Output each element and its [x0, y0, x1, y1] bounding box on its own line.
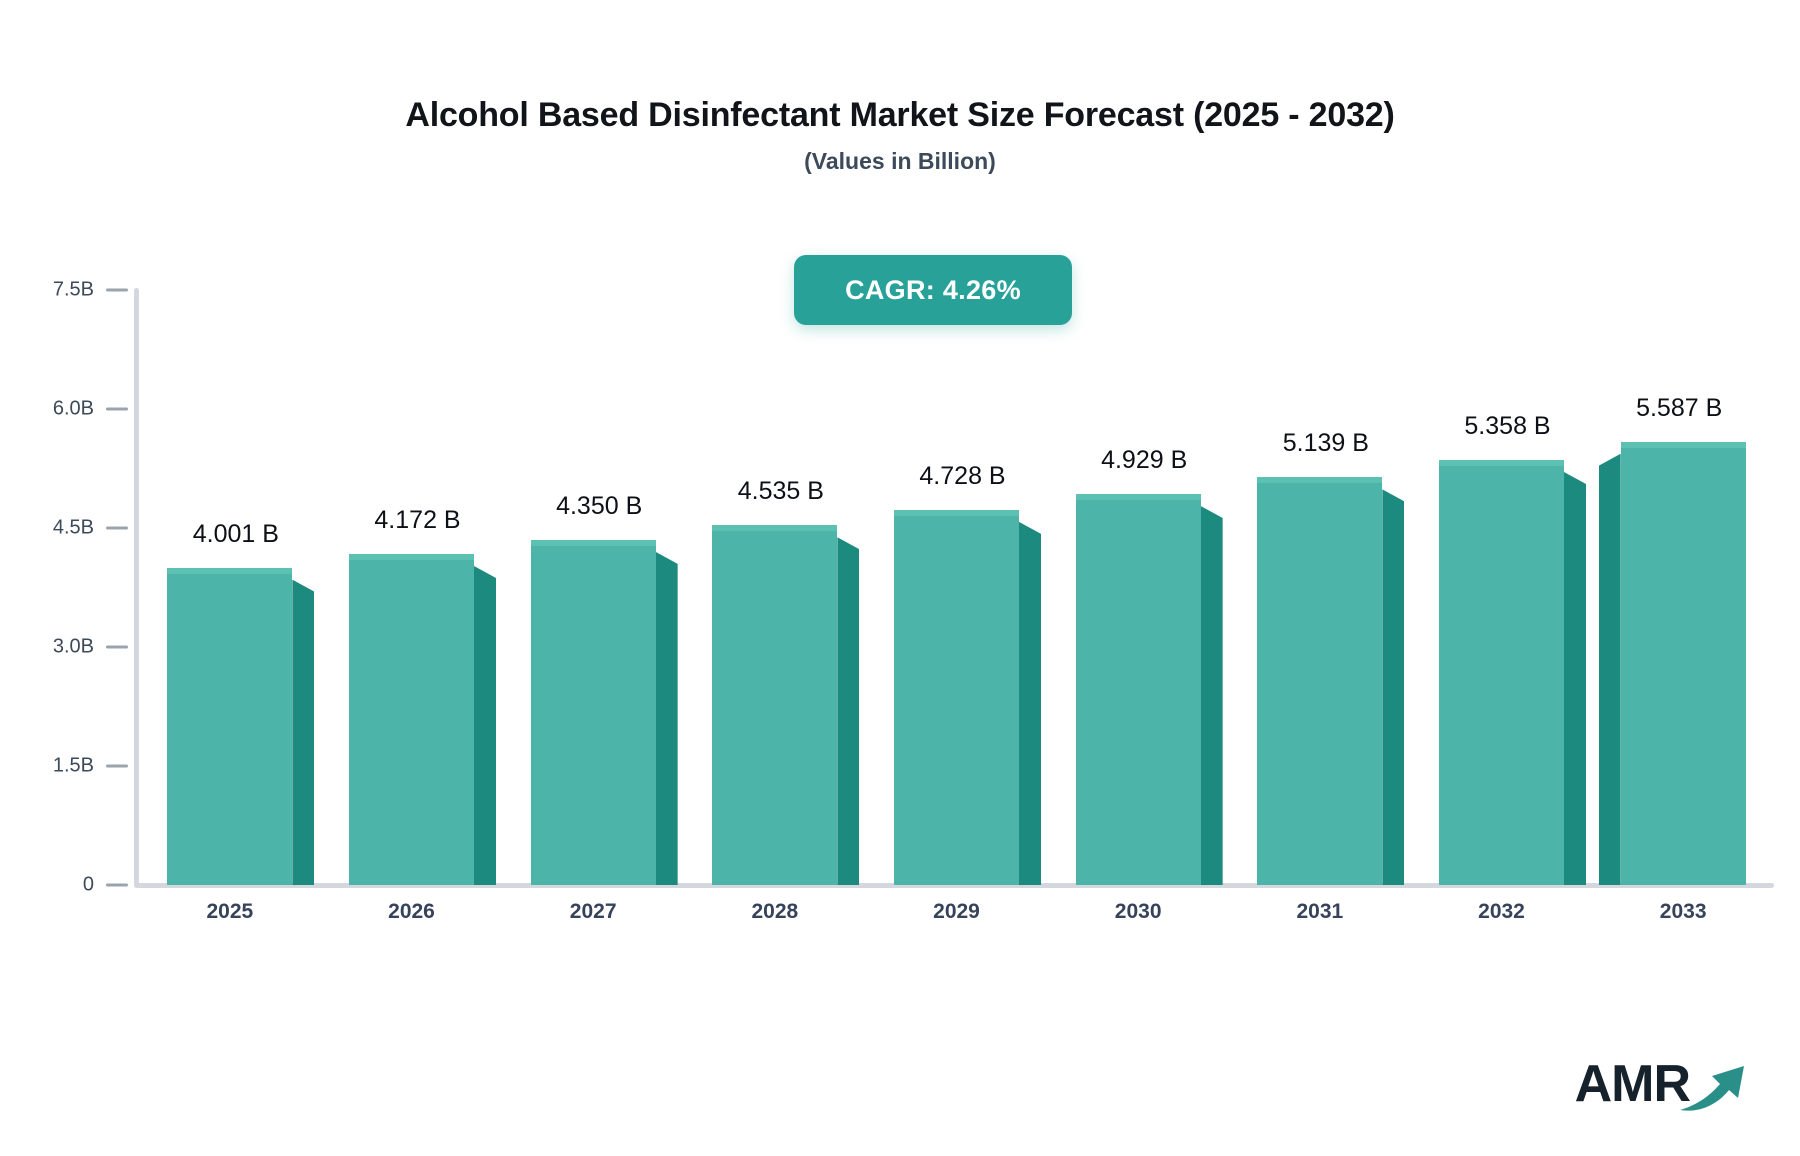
bar-value-label: 4.728 B — [919, 462, 1005, 491]
x-axis-label: 2030 — [1115, 900, 1162, 924]
bar-value-label: 4.350 B — [556, 492, 642, 521]
bar-top-cap — [1621, 442, 1746, 448]
bar-side-face — [292, 580, 314, 885]
plot-area: 01.5B3.0B4.5B6.0B7.5B 4.001 B4.172 B4.35… — [0, 0, 1800, 1156]
bar-front-face — [1621, 442, 1746, 885]
bars-layer: 4.001 B4.172 B4.350 B4.535 B4.728 B4.929… — [0, 0, 1800, 1156]
x-axis-label: 2025 — [206, 900, 253, 924]
bar-side-face — [1564, 472, 1586, 885]
x-axis-label: 2032 — [1478, 900, 1525, 924]
bar-front-face — [1076, 494, 1201, 885]
x-axis-label: 2028 — [751, 900, 798, 924]
bar-side-face — [656, 552, 678, 885]
bar-value-label: 5.587 B — [1636, 394, 1722, 423]
bar-side-face — [1599, 454, 1621, 885]
bar-side-face — [1382, 489, 1404, 885]
bar[interactable] — [167, 568, 292, 885]
bar-top-cap — [894, 510, 1019, 516]
bar-top-cap — [349, 554, 474, 560]
bar-value-label: 4.929 B — [1101, 446, 1187, 475]
bar[interactable] — [1439, 460, 1564, 885]
bar-top-cap — [712, 525, 837, 531]
bar-top-cap — [167, 568, 292, 574]
x-axis-label: 2027 — [570, 900, 617, 924]
bar-front-face — [531, 540, 656, 885]
bar-top-cap — [1076, 494, 1201, 500]
bar[interactable] — [712, 525, 837, 885]
x-axis-label: 2026 — [388, 900, 435, 924]
bar-value-label: 4.535 B — [738, 477, 824, 506]
bar-value-label: 5.358 B — [1464, 412, 1550, 441]
bar-side-face — [474, 566, 496, 885]
x-axis-label: 2033 — [1660, 900, 1707, 924]
bar-top-cap — [1257, 477, 1382, 483]
bar-side-face — [1019, 522, 1041, 885]
bar[interactable] — [1621, 442, 1746, 885]
growth-arrow-icon — [1678, 1058, 1752, 1114]
bar-value-label: 5.139 B — [1283, 429, 1369, 458]
bar-front-face — [349, 554, 474, 885]
bar-front-face — [712, 525, 837, 885]
x-axis-label: 2029 — [933, 900, 980, 924]
bar-front-face — [167, 568, 292, 885]
chart-page: Alcohol Based Disinfectant Market Size F… — [0, 0, 1800, 1156]
bar-top-cap — [1439, 460, 1564, 466]
bar-value-label: 4.001 B — [193, 520, 279, 549]
bar[interactable] — [531, 540, 656, 885]
bar-value-label: 4.172 B — [374, 506, 460, 535]
bar[interactable] — [349, 554, 474, 885]
logo-text: AMR — [1575, 1058, 1690, 1110]
bar-front-face — [894, 510, 1019, 885]
bar[interactable] — [1257, 477, 1382, 885]
x-axis-label: 2031 — [1296, 900, 1343, 924]
bar-side-face — [837, 537, 859, 885]
bar-front-face — [1257, 477, 1382, 885]
bar-top-cap — [531, 540, 656, 546]
bar[interactable] — [1076, 494, 1201, 885]
bar-front-face — [1439, 460, 1564, 885]
bar-side-face — [1201, 506, 1223, 885]
bar[interactable] — [894, 510, 1019, 885]
amr-logo: AMR — [1575, 1058, 1752, 1110]
